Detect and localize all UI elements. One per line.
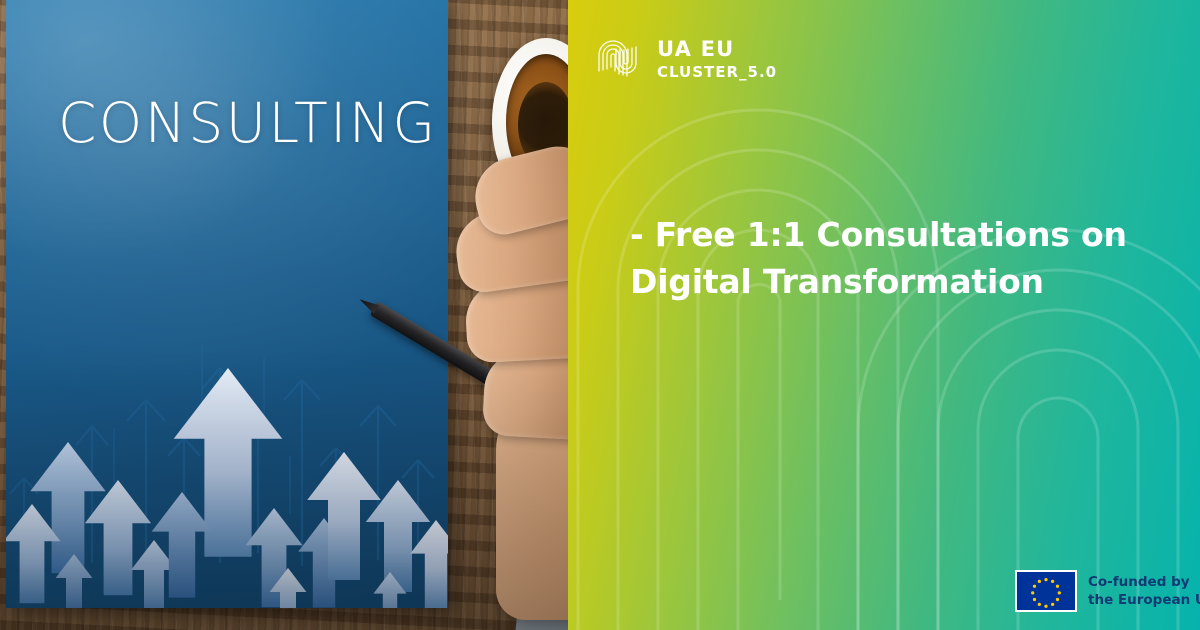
fingerprint-watermark	[568, 0, 1200, 630]
brand-panel: UA EU CLUSTER_5.0 - Free 1:1 Consultatio…	[568, 0, 1200, 630]
eu-funding-line-1: Co-funded by	[1088, 573, 1200, 591]
photo-panel: CONSULTING	[0, 0, 570, 630]
eu-funding-line-2: the European Union	[1088, 591, 1200, 609]
promo-banner: CONSULTING	[0, 0, 1200, 630]
logo-line-2: CLUSTER_5.0	[657, 65, 777, 80]
brand-logo-text: UA EU CLUSTER_5.0	[657, 39, 777, 80]
headline: - Free 1:1 Consultations on Digital Tran…	[630, 212, 1150, 306]
photo-vignette	[0, 0, 570, 630]
fingerprint-spiral-icon	[594, 34, 644, 84]
eu-flag-icon	[1015, 570, 1077, 612]
logo-line-1: UA EU	[657, 39, 777, 60]
eu-funding-text: Co-funded by the European Union	[1088, 573, 1200, 609]
eu-funding-badge: Co-funded by the European Union	[1015, 570, 1200, 612]
brand-logo: UA EU CLUSTER_5.0	[594, 34, 777, 84]
